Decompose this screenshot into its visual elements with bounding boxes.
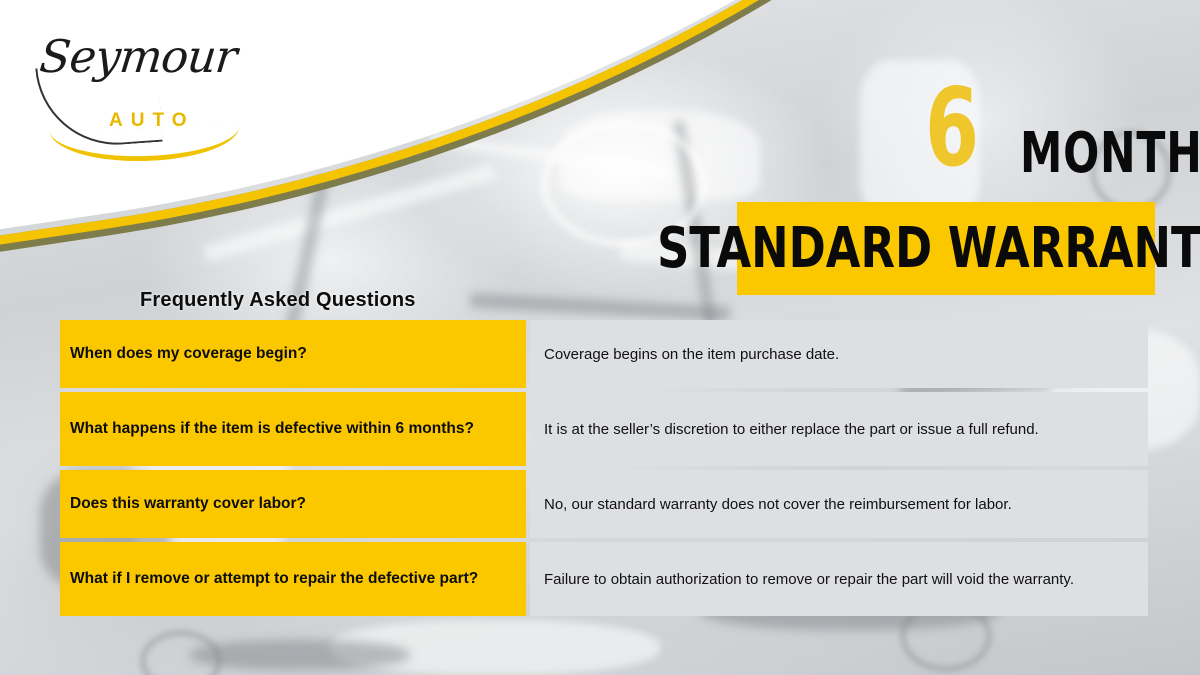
faq-question: Does this warranty cover labor?: [60, 470, 526, 538]
faq-question: When does my coverage begin?: [60, 320, 526, 388]
faq-answer: Coverage begins on the item purchase dat…: [530, 320, 1148, 388]
logo-wordmark: Seymour: [37, 30, 239, 83]
faq-row: What if I remove or attempt to repair th…: [60, 542, 1148, 616]
faq-section-title: Frequently Asked Questions: [140, 289, 416, 312]
faq-answer: Failure to obtain authorization to remov…: [530, 542, 1148, 616]
faq-answer: It is at the seller’s discretion to eith…: [530, 392, 1148, 466]
faq-question: What happens if the item is defective wi…: [60, 392, 526, 466]
faq-table: When does my coverage begin? Coverage be…: [60, 320, 1148, 620]
warranty-slide: Seymour AUTO 6 MONTH STANDARD WARRANTY F…: [0, 0, 1200, 675]
standard-warranty-banner: STANDARD WARRANTY: [737, 202, 1155, 295]
faq-row: Does this warranty cover labor? No, our …: [60, 470, 1148, 538]
seymour-auto-logo: Seymour AUTO: [24, 24, 254, 124]
faq-row: What happens if the item is defective wi…: [60, 392, 1148, 466]
faq-question: What if I remove or attempt to repair th…: [60, 542, 526, 616]
standard-warranty-banner-text: STANDARD WARRANTY: [658, 220, 1200, 278]
warranty-duration-unit: MONTH: [1020, 126, 1200, 182]
warranty-duration-number: 6: [925, 75, 979, 183]
faq-answer: No, our standard warranty does not cover…: [530, 470, 1148, 538]
faq-row: When does my coverage begin? Coverage be…: [60, 320, 1148, 388]
photo-shadow: [190, 640, 410, 670]
